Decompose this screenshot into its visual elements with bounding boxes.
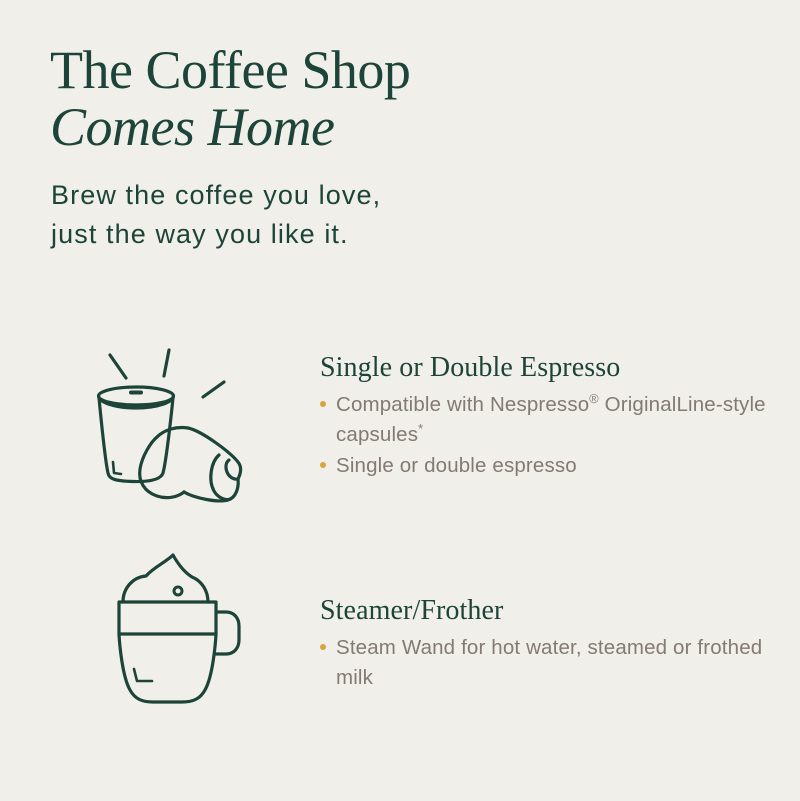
espresso-capsules-icon: [78, 340, 320, 510]
subheadline: Brew the coffee you love, just the way y…: [51, 176, 381, 254]
capsule-upright-body: [99, 398, 173, 482]
feature-single-or-double-espresso: Single or Double Espresso Compatible wit…: [78, 340, 778, 510]
feature-steamer-frother: Steamer/Frother Steam Wand for hot water…: [98, 550, 798, 710]
sparkle-line-right: [203, 382, 224, 397]
milk-frother-mug-icon: [98, 550, 320, 710]
feature-steamer-text: Steamer/Frother Steam Wand for hot water…: [320, 550, 798, 694]
bullet-text: Single or double espresso: [336, 454, 577, 477]
page-title: The Coffee Shop Comes Home: [50, 42, 410, 156]
mug-handle: [216, 612, 239, 654]
asterisk-mark: *: [418, 421, 423, 436]
list-item: Single or double espresso: [320, 451, 778, 481]
bullet-dot-icon: [320, 644, 326, 650]
list-item: Steam Wand for hot water, steamed or fro…: [320, 633, 798, 693]
feature-espresso-bullets: Compatible with Nespresso® OriginalLine-…: [320, 390, 778, 481]
bullet-text: Steam Wand for hot water, steamed or fro…: [336, 636, 762, 689]
headline-line-1: The Coffee Shop: [50, 42, 410, 99]
foam-bubble-icon: [174, 587, 182, 595]
feature-espresso-text: Single or Double Espresso Compatible wit…: [320, 340, 778, 482]
sparkle-line-middle: [164, 350, 169, 376]
milk-foam: [123, 555, 208, 602]
capsule-tipped-top-curve: [157, 427, 188, 437]
mug-highlight-tick: [134, 669, 152, 681]
capsule-highlight-tick: [113, 462, 121, 474]
capsule-tipped-top-edge: [188, 428, 241, 479]
capsule-tipped-rim-inner: [226, 460, 238, 479]
promo-page: The Coffee Shop Comes Home Brew the coff…: [0, 0, 800, 801]
list-item: Compatible with Nespresso® OriginalLine-…: [320, 390, 778, 450]
feature-steamer-bullets: Steam Wand for hot water, steamed or fro…: [320, 633, 798, 693]
sparkle-line-left: [110, 355, 126, 378]
subheadline-line-2: just the way you like it.: [51, 215, 381, 254]
capsule-tipped-left-curve: [140, 437, 184, 498]
subheadline-line-1: Brew the coffee you love,: [51, 176, 381, 215]
capsule-upright-lid: [99, 387, 174, 405]
feature-espresso-title: Single or Double Espresso: [320, 352, 778, 384]
bullet-dot-icon: [320, 462, 326, 468]
headline-line-2: Comes Home: [50, 99, 410, 156]
registered-trademark-mark: ®: [589, 391, 599, 406]
mug-band: [119, 602, 216, 634]
bullet-text: Compatible with Nespresso: [336, 393, 589, 416]
feature-steamer-title: Steamer/Frother: [320, 595, 798, 627]
bullet-dot-icon: [320, 401, 326, 407]
